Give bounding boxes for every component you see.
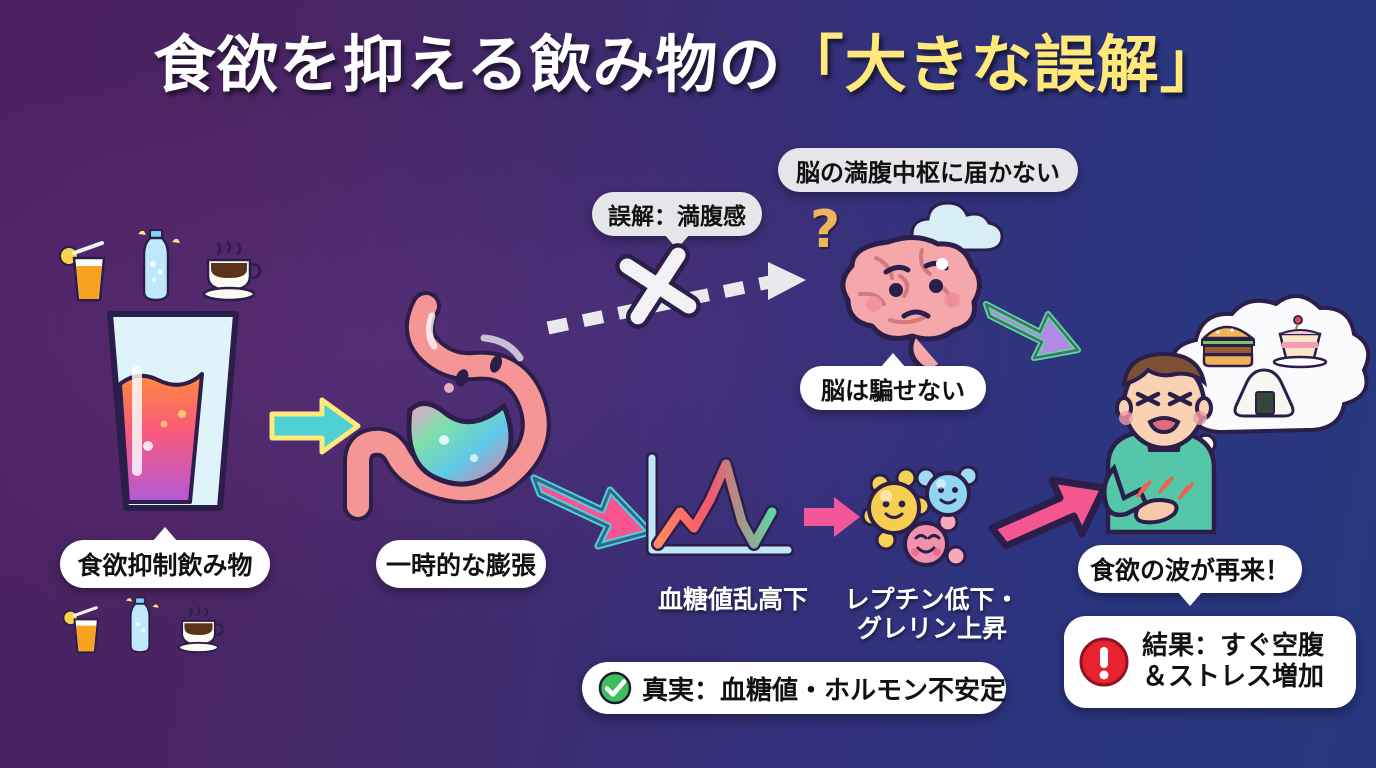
label-blood-sugar: 血糖値乱高下 (648, 586, 818, 615)
drink-glass-icon (88, 306, 258, 516)
label-brain-top-text: 脳の満腹中枢に届かない (796, 153, 1060, 188)
arrow-pink-right (802, 494, 864, 540)
hormone-molecules-icon (856, 448, 1006, 578)
title-white-part: 食欲を抑える飲み物の (153, 28, 781, 101)
label-stomach: 一時的な膨張 (376, 540, 546, 588)
label-appetite-return: 食欲の波が再来！ (1078, 545, 1302, 593)
label-blood-sugar-text: 血糖値乱高下 (658, 585, 808, 614)
label-hormone-line1: レプチン低下・ (832, 586, 1032, 615)
coffee-cup-icon (196, 240, 266, 306)
result-callout: 結果：すぐ空腹 ＆ストレス増加 (1064, 616, 1356, 708)
label-stomach-text: 一時的な膨張 (386, 546, 536, 582)
label-drink-text: 食欲抑制飲み物 (77, 546, 252, 582)
truth-banner: 真実：血糖値・ホルモン不安定 (582, 662, 1006, 714)
label-drink: 食欲抑制飲み物 (60, 540, 270, 588)
coffee-cup-icon (173, 605, 228, 656)
label-result-line1: 結果：すぐ空腹 (1142, 631, 1324, 662)
hungry-person-icon (1092, 346, 1252, 550)
label-brain-top: 脳の満腹中枢に届かない (778, 148, 1078, 192)
infographic-canvas: 食欲を抑える飲み物の「大きな誤解」 (0, 0, 1376, 768)
blood-sugar-chart-icon (638, 452, 798, 564)
truth-banner-text: 真実：血糖値・ホルモン不安定 (642, 670, 1006, 707)
page-title: 食欲を抑える飲み物の「大きな誤解」 (0, 34, 1376, 96)
brain-icon (830, 232, 998, 382)
water-bottle-icon (132, 228, 180, 306)
label-brain-bottom: 脳は騙せない (800, 366, 986, 410)
label-misconception: 誤解：満腹感 (592, 192, 762, 236)
juice-glass-icon (62, 602, 107, 657)
check-circle-icon (598, 671, 632, 705)
drink-icon-row-top (58, 228, 266, 306)
juice-glass-icon (58, 236, 116, 306)
arrow-purple-green-down-right (978, 288, 1088, 370)
drink-icon-row-bottom (62, 596, 227, 657)
water-bottle-icon (121, 596, 158, 657)
label-result-line2: ＆ストレス増加 (1142, 662, 1324, 693)
label-appetite-return-text: 食欲の波が再来！ (1090, 551, 1290, 587)
label-hormone: レプチン低下・ グレリン上昇 (832, 586, 1032, 644)
label-misconception-text: 誤解：満腹感 (608, 197, 746, 231)
title-yellow-part: 「大きな誤解」 (782, 28, 1223, 101)
alert-exclamation-icon (1078, 636, 1130, 688)
label-brain-bottom-text: 脳は騙せない (821, 371, 965, 406)
label-hormone-line2: グレリン上昇 (832, 615, 1032, 644)
arrow-dashed-white-blocked (540, 250, 820, 340)
